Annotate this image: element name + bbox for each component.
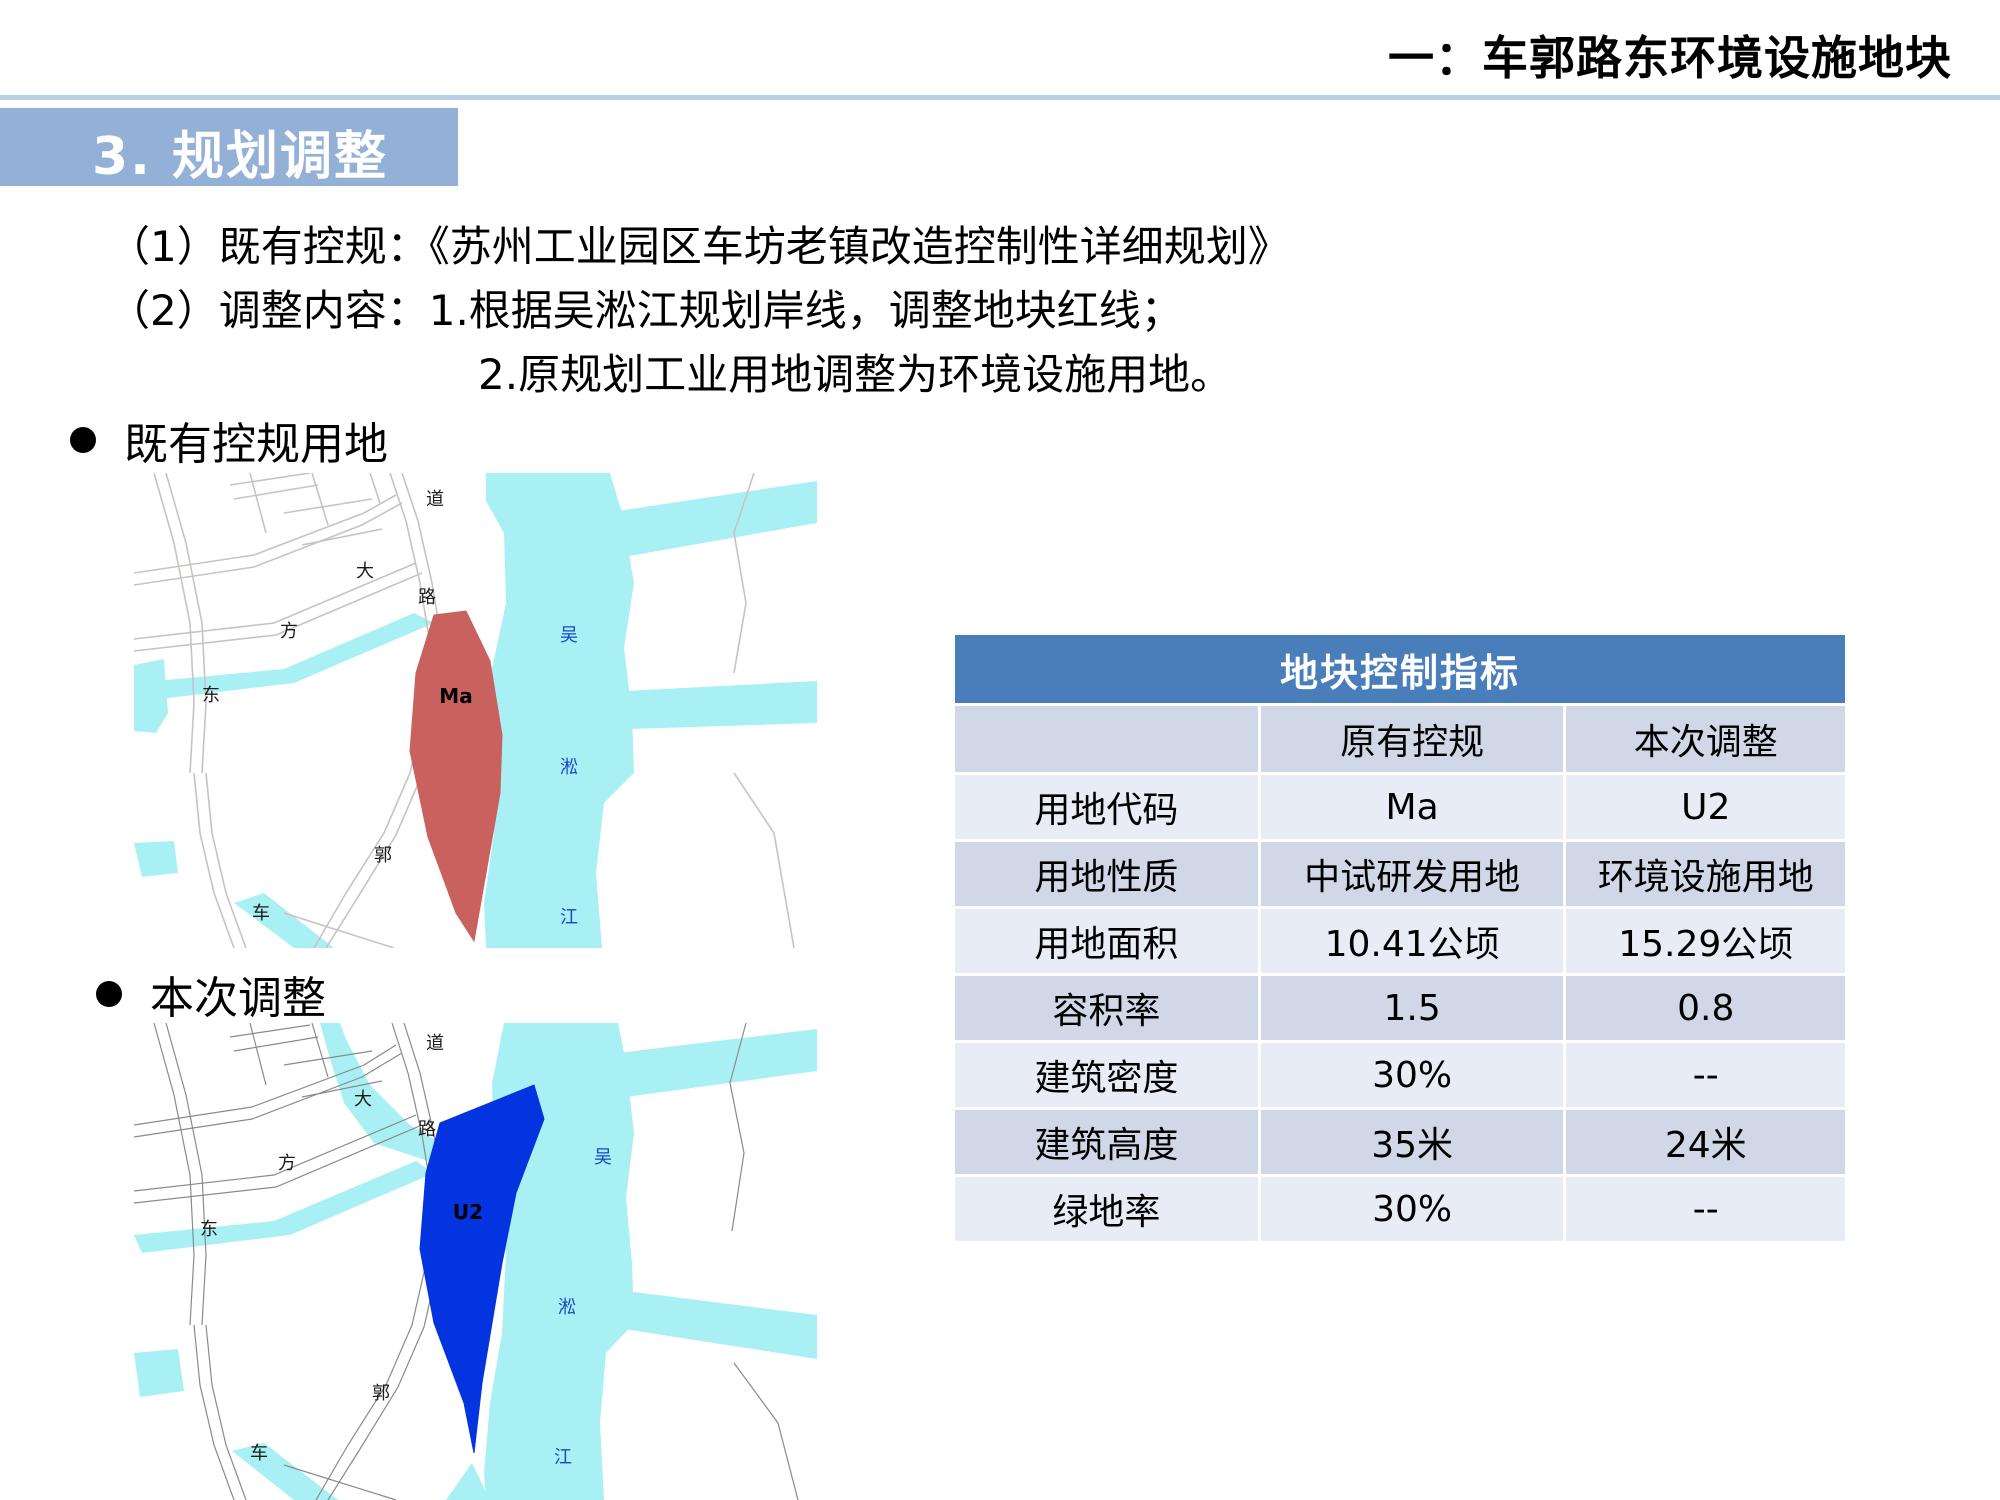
svg-text:方: 方 <box>280 621 298 642</box>
bullet-existing-plan: 既有控规用地 <box>70 408 388 472</box>
table-title-row: 地块控制指标 <box>955 635 1845 703</box>
svg-text:吴: 吴 <box>594 1147 612 1168</box>
svg-text:车: 车 <box>252 903 270 924</box>
section-title: 3. 规划调整 <box>92 114 388 189</box>
map-existing-plan[interactable]: Ma 道 大 路 方 东 郭 车 吴 淞 江 <box>134 473 817 948</box>
svg-text:淞: 淞 <box>560 757 578 778</box>
table-row: 绿地率 30% -- <box>955 1177 1845 1241</box>
parcel-label-U2: U2 <box>453 1200 483 1224</box>
row-value-original: 35米 <box>1261 1110 1564 1174</box>
row-value-original: Ma <box>1261 775 1564 839</box>
svg-text:吴: 吴 <box>560 625 578 646</box>
svg-text:方: 方 <box>278 1153 296 1174</box>
row-value-adjusted: -- <box>1566 1177 1845 1241</box>
svg-text:路: 路 <box>418 1119 436 1140</box>
table-row: 容积率 1.5 0.8 <box>955 976 1845 1040</box>
svg-text:大: 大 <box>356 561 374 582</box>
svg-text:道: 道 <box>426 1033 444 1054</box>
row-value-adjusted: 15.29公顷 <box>1566 909 1845 973</box>
metrics-table: 地块控制指标 原有控规 本次调整 用地代码 Ma U2 用地性质 中试研发用地 … <box>952 632 1848 1244</box>
row-value-adjusted: -- <box>1566 1043 1845 1107</box>
map-adjusted-plan[interactable]: U2 道 大 路 方 东 郭 车 车 吴 淞 江 <box>134 1023 817 1500</box>
svg-text:江: 江 <box>554 1447 572 1468</box>
column-header-original: 原有控规 <box>1261 706 1564 772</box>
table-row: 用地性质 中试研发用地 环境设施用地 <box>955 842 1845 906</box>
table-body: 用地代码 Ma U2 用地性质 中试研发用地 环境设施用地 用地面积 10.41… <box>955 775 1845 1241</box>
row-value-adjusted: 0.8 <box>1566 976 1845 1040</box>
metrics-table-container: 地块控制指标 原有控规 本次调整 用地代码 Ma U2 用地性质 中试研发用地 … <box>952 632 1848 1244</box>
bullet-adjusted-label: 本次调整 <box>150 962 326 1026</box>
table-row: 建筑密度 30% -- <box>955 1043 1845 1107</box>
table-column-header-row: 原有控规 本次调整 <box>955 706 1845 772</box>
column-header-adjusted: 本次调整 <box>1566 706 1845 772</box>
row-label: 绿地率 <box>955 1177 1258 1241</box>
svg-text:淞: 淞 <box>558 1297 576 1318</box>
svg-text:东: 东 <box>202 685 220 706</box>
svg-text:车: 车 <box>250 1443 268 1464</box>
row-value-original: 30% <box>1261 1177 1564 1241</box>
row-label: 用地性质 <box>955 842 1258 906</box>
bullet-existing-label: 既有控规用地 <box>124 408 388 472</box>
svg-text:道: 道 <box>426 489 444 510</box>
body-line-3: 2.原规划工业用地调整为环境设施用地。 <box>108 343 1290 407</box>
row-value-original: 10.41公顷 <box>1261 909 1564 973</box>
bullet-adjusted-plan: 本次调整 <box>96 962 326 1026</box>
table-row: 用地面积 10.41公顷 15.29公顷 <box>955 909 1845 973</box>
svg-text:路: 路 <box>418 587 436 608</box>
row-label: 建筑密度 <box>955 1043 1258 1107</box>
body-line-1: （1）既有控规：《苏州工业园区车坊老镇改造控制性详细规划》 <box>108 215 1290 279</box>
header-divider <box>0 95 2000 100</box>
row-value-original: 中试研发用地 <box>1261 842 1564 906</box>
bullet-dot-icon <box>70 427 96 453</box>
map-adjusted-svg: U2 道 大 路 方 东 郭 车 车 吴 淞 江 <box>134 1023 817 1500</box>
row-value-adjusted: 24米 <box>1566 1110 1845 1174</box>
map-existing-svg: Ma 道 大 路 方 东 郭 车 吴 淞 江 <box>134 473 817 948</box>
page-header-title: 一：车郭路东环境设施地块 <box>1388 22 1952 88</box>
row-label: 用地代码 <box>955 775 1258 839</box>
row-label: 建筑高度 <box>955 1110 1258 1174</box>
svg-text:江: 江 <box>560 907 578 928</box>
svg-text:郭: 郭 <box>372 1383 390 1404</box>
body-line-2: （2）调整内容：1.根据吴淞江规划岸线，调整地块红线； <box>108 279 1290 343</box>
row-label: 用地面积 <box>955 909 1258 973</box>
table-row: 建筑高度 35米 24米 <box>955 1110 1845 1174</box>
body-paragraph: （1）既有控规：《苏州工业园区车坊老镇改造控制性详细规划》 （2）调整内容：1.… <box>108 215 1290 407</box>
row-value-adjusted: U2 <box>1566 775 1845 839</box>
bullet-dot-icon <box>96 981 122 1007</box>
svg-text:大: 大 <box>354 1089 372 1110</box>
table-title: 地块控制指标 <box>955 635 1845 703</box>
row-label: 容积率 <box>955 976 1258 1040</box>
row-value-adjusted: 环境设施用地 <box>1566 842 1845 906</box>
row-value-original: 1.5 <box>1261 976 1564 1040</box>
svg-text:东: 东 <box>200 1219 218 1240</box>
column-header-blank <box>955 706 1258 772</box>
svg-text:郭: 郭 <box>374 845 392 866</box>
table-row: 用地代码 Ma U2 <box>955 775 1845 839</box>
parcel-label-Ma: Ma <box>439 684 472 708</box>
row-value-original: 30% <box>1261 1043 1564 1107</box>
